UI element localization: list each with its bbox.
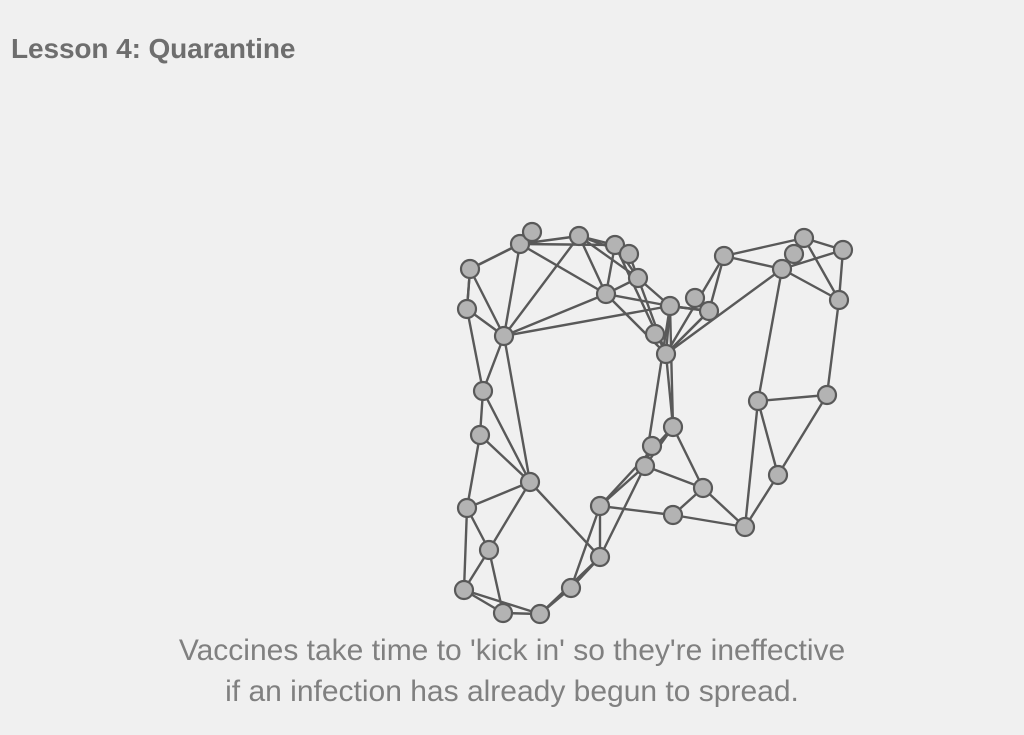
graph-edge — [467, 309, 483, 391]
graph-node — [643, 437, 661, 455]
graph-node — [471, 426, 489, 444]
caption-line-2: if an infection has already begun to spr… — [0, 671, 1024, 712]
graph-node — [834, 241, 852, 259]
graph-edge — [464, 508, 467, 590]
graph-node — [749, 392, 767, 410]
graph-node — [523, 223, 541, 241]
graph-node — [785, 245, 803, 263]
graph-node — [570, 227, 588, 245]
graph-node — [480, 541, 498, 559]
graph-edge — [778, 395, 827, 475]
graph-edge — [489, 482, 530, 550]
graph-node — [686, 289, 704, 307]
slide-canvas: Lesson 4: Quarantine Vaccines take time … — [0, 0, 1024, 735]
graph-node — [629, 269, 647, 287]
graph-edge — [571, 506, 600, 588]
graph-node-layer — [455, 223, 852, 623]
graph-node — [591, 548, 609, 566]
graph-node — [636, 457, 654, 475]
graph-node — [661, 297, 679, 315]
graph-edge — [758, 395, 827, 401]
graph-node — [830, 291, 848, 309]
graph-node — [455, 581, 473, 599]
graph-edge — [758, 269, 782, 401]
graph-node — [494, 604, 512, 622]
network-graph-figure — [40, 106, 1024, 646]
slide-caption: Vaccines take time to 'kick in' so they'… — [0, 630, 1024, 712]
graph-edge — [504, 244, 520, 336]
graph-node — [495, 327, 513, 345]
graph-node — [461, 260, 479, 278]
graph-node — [458, 499, 476, 517]
graph-node — [521, 473, 539, 491]
graph-edge-layer — [464, 236, 843, 614]
graph-node — [700, 302, 718, 320]
graph-node — [694, 479, 712, 497]
graph-node — [736, 518, 754, 536]
graph-node — [664, 506, 682, 524]
graph-edge — [666, 269, 782, 354]
graph-node — [664, 418, 682, 436]
graph-edge — [600, 506, 673, 515]
graph-node — [773, 260, 791, 278]
graph-edge — [467, 435, 480, 508]
graph-node — [795, 229, 813, 247]
graph-node — [474, 382, 492, 400]
graph-node — [531, 605, 549, 623]
graph-node — [597, 285, 615, 303]
graph-node — [715, 247, 733, 265]
page-title: Lesson 4: Quarantine — [11, 33, 295, 65]
graph-node — [769, 466, 787, 484]
caption-line-1: Vaccines take time to 'kick in' so they'… — [0, 630, 1024, 671]
graph-node — [458, 300, 476, 318]
graph-edge — [530, 482, 600, 557]
graph-node — [818, 386, 836, 404]
graph-node — [657, 345, 675, 363]
graph-edge — [758, 401, 778, 475]
graph-node — [562, 579, 580, 597]
graph-edge — [827, 300, 839, 395]
graph-node — [646, 325, 664, 343]
graph-edge — [467, 482, 530, 508]
graph-node — [620, 245, 638, 263]
graph-node — [591, 497, 609, 515]
graph-edge — [470, 269, 504, 336]
network-graph — [40, 106, 1024, 646]
